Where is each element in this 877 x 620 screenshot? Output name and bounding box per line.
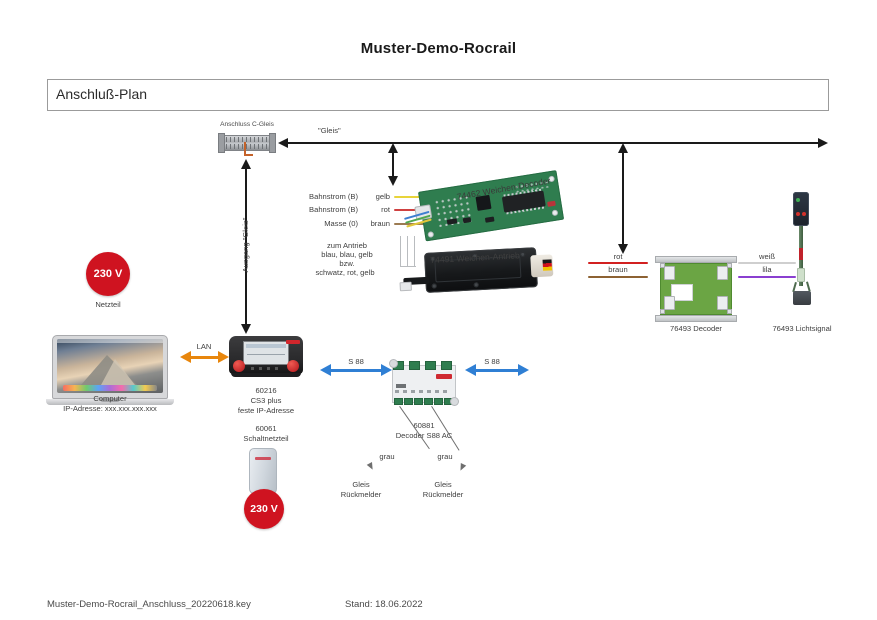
decoder-76493-label: 76493 Decoder	[645, 324, 747, 334]
branch-arrow-up-weichen	[388, 143, 398, 153]
subtitle-box	[47, 79, 829, 111]
gleis-bus-arrow-left	[278, 138, 288, 148]
branch-arrow-up-76493	[618, 143, 628, 153]
rueckmelder-right-arrow	[458, 463, 466, 472]
cs3-plus-controller	[229, 336, 303, 378]
gleis-bus-arrow-right	[818, 138, 828, 148]
ausgang-gleis-label: Ausgang "Gleis"	[241, 195, 251, 295]
ausgang-gleis-arrow-up	[241, 159, 251, 169]
lan-arrow-right	[218, 351, 229, 363]
dec-out-lila-wire	[738, 276, 796, 278]
branch-line-76493	[622, 150, 624, 246]
rueckmelder-left-color: grau	[364, 452, 410, 462]
s88-left-label: S 88	[330, 357, 382, 367]
dec-out-lila-label: lila	[738, 265, 796, 275]
rueckmelder-left-line1: Gleis	[330, 480, 392, 490]
lan-label: LAN	[180, 342, 228, 352]
rueckmelder-left-line2: Rückmelder	[324, 490, 398, 500]
subtitle-text: Anschluß-Plan	[56, 86, 147, 102]
antrieb-note-line4: schwatz, rot, gelb	[296, 268, 394, 278]
schaltnetzteil-article-number: 60061	[226, 424, 306, 434]
s88-right-line	[476, 369, 518, 372]
page-title: Muster-Demo-Rocrail	[0, 40, 877, 57]
lichtsignal-label: 76493 Lichtsignal	[750, 324, 854, 334]
drive-cable-strands	[398, 236, 422, 270]
rueckmelder-right-color: grau	[422, 452, 468, 462]
schaltnetzteil-voltage-badge: 230 V	[244, 489, 284, 529]
lichtsignal-76493	[789, 192, 815, 310]
rueckmelder-right-line2: Rückmelder	[406, 490, 480, 500]
wire-masse-color: braun	[362, 219, 390, 229]
cs3-article-number: 60216	[226, 386, 306, 396]
cgleis-connector	[218, 133, 276, 155]
footer-date: Stand: 18.06.2022	[345, 599, 423, 610]
netzteil-voltage-badge: 230 V	[86, 252, 130, 296]
cs3-model-name: CS3 plus	[226, 396, 306, 406]
branch-arrow-down-weichen	[388, 176, 398, 186]
wire-bahnstrom-2-function: Bahnstrom (B)	[282, 205, 358, 215]
dec-in-rot-label: rot	[588, 252, 648, 262]
dec-in-braun-label: braun	[588, 265, 648, 275]
computer-label: Computer	[50, 394, 170, 404]
schaltnetzteil-label: Schaltnetzteil	[222, 434, 310, 444]
wire-bahnstrom-1-color: gelb	[362, 192, 390, 202]
rueckmelder-left-arrow	[367, 462, 376, 471]
cgleis-label: Anschluss C-Gleis	[206, 120, 288, 129]
branch-line-weichen	[392, 150, 394, 178]
s88-article-number: 60881	[386, 421, 462, 431]
ausgang-gleis-arrow-down	[241, 324, 251, 334]
rueckmelder-right-line1: Gleis	[412, 480, 474, 490]
anschlussplan-diagram: Muster-Demo-Rocrail Anschluß-Plan "Gleis…	[0, 0, 877, 620]
dec-out-weiss-wire	[738, 262, 796, 264]
decoder-76493-board	[655, 256, 737, 322]
footer-filename: Muster-Demo-Rocrail_Anschluss_20220618.k…	[47, 599, 251, 610]
dec-out-weiss-label: weiß	[738, 252, 796, 262]
wire-bahnstrom-2-color: rot	[362, 205, 390, 215]
wire-masse-function: Masse (0)	[282, 219, 358, 229]
decoder-s88-module	[390, 360, 458, 408]
cs3-ip-note: feste IP-Adresse	[222, 406, 310, 416]
schaltnetzteil-unit	[249, 448, 277, 494]
s88-left-line	[331, 369, 381, 372]
gleis-bus-line	[288, 142, 818, 144]
wire-bahnstrom-1-function: Bahnstrom (B)	[282, 192, 358, 202]
dec-in-braun-wire	[588, 276, 648, 278]
s88-right-label: S 88	[464, 357, 520, 367]
gleis-bus-label: "Gleis"	[318, 126, 341, 136]
computer-ip-address: IP-Adresse: xxx.xxx.xxx.xxx	[40, 404, 180, 414]
dec-in-rot-wire	[588, 262, 648, 264]
lan-line	[190, 356, 218, 359]
lan-arrow-left	[180, 351, 191, 363]
netzteil-label: Netzteil	[70, 300, 146, 310]
